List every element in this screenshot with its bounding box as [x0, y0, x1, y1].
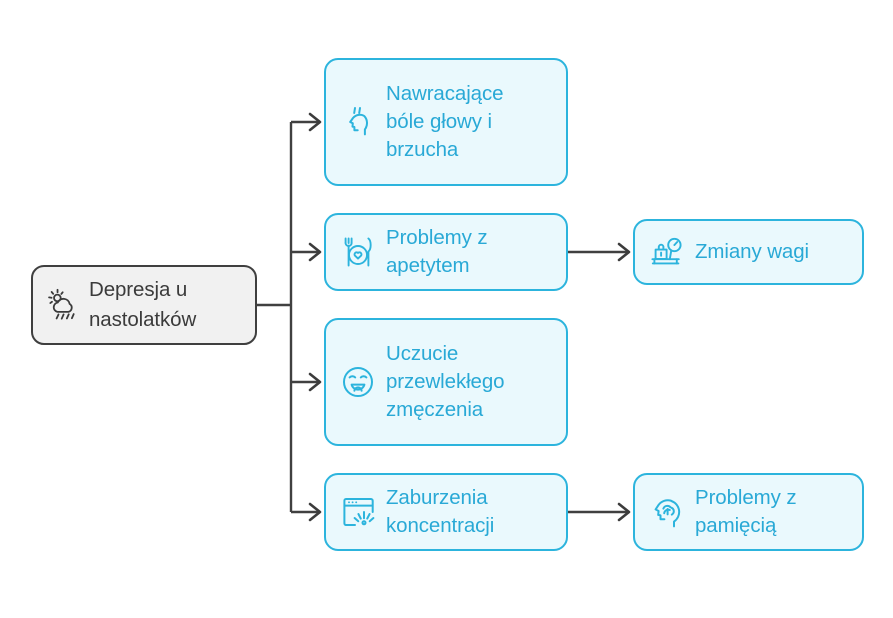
node-problemy-z-pamiecia[interactable]: Problemy z pamięcią — [633, 473, 864, 551]
head-brain-icon — [647, 492, 687, 532]
arrowhead-memory — [619, 504, 629, 520]
node-uczucie-przewleklego-zmeczenia[interactable]: Uczucie przewlekłego zmęczenia — [324, 318, 568, 446]
head-pain-icon — [338, 102, 378, 142]
node-problemy-z-apetytem[interactable]: Problemy z apetytem — [324, 213, 568, 291]
yawning-face-icon — [338, 362, 378, 402]
node-label: Depresja u nastolatków — [89, 275, 241, 335]
node-zmiany-wagi[interactable]: Zmiany wagi — [633, 219, 864, 285]
sun-cloud-rain-icon — [45, 286, 83, 324]
node-zaburzenia-koncentracji[interactable]: Zaburzenia koncentracji — [324, 473, 568, 551]
node-label: Zaburzenia koncentracji — [386, 484, 550, 540]
node-label: Uczucie przewlekłego zmęczenia — [386, 340, 550, 424]
plate-fork-knife-heart-icon — [338, 232, 378, 272]
node-label: Nawracające bóle głowy i brzucha — [386, 80, 550, 164]
arrowhead-headaches — [310, 114, 320, 130]
diagram-canvas: Depresja u nastolatków Nawracające bóle … — [0, 0, 893, 618]
node-depresja-u-nastolatkow[interactable]: Depresja u nastolatków — [31, 265, 257, 345]
browser-window-signal-icon — [338, 492, 378, 532]
weighing-scale-bag-icon — [647, 232, 687, 272]
node-label: Problemy z pamięcią — [695, 484, 846, 540]
arrowhead-appetite — [310, 244, 320, 260]
node-label: Problemy z apetytem — [386, 224, 550, 280]
node-nawracajace-bole-glowy-i-brzucha[interactable]: Nawracające bóle głowy i brzucha — [324, 58, 568, 186]
node-label: Zmiany wagi — [695, 238, 846, 266]
arrowhead-weight — [619, 244, 629, 260]
arrowhead-focus — [310, 504, 320, 520]
arrowhead-fatigue — [310, 374, 320, 390]
